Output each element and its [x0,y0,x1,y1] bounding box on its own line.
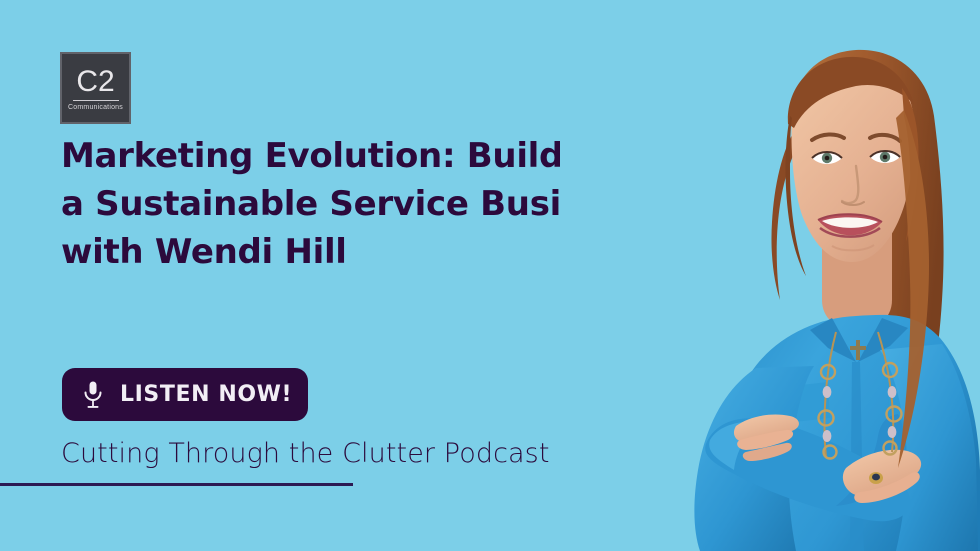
bottom-divider [0,483,353,486]
c2-communications-logo: C2 Communications [60,52,131,124]
logo-inner: C2 Communications [62,65,129,112]
logo-mark-text: C2 [76,67,114,97]
logo-divider [73,100,119,101]
listen-now-button[interactable]: LISTEN NOW! [62,368,308,421]
host-portrait [560,0,980,551]
logo-subtext: Communications [68,104,123,112]
podcast-name: Cutting Through the Clutter Podcast [61,436,550,472]
microphone-icon [70,368,116,421]
listen-now-label: LISTEN NOW! [120,382,292,407]
podcast-episode-graphic: C2 Communications Marketing Evolution: B… [0,0,980,551]
